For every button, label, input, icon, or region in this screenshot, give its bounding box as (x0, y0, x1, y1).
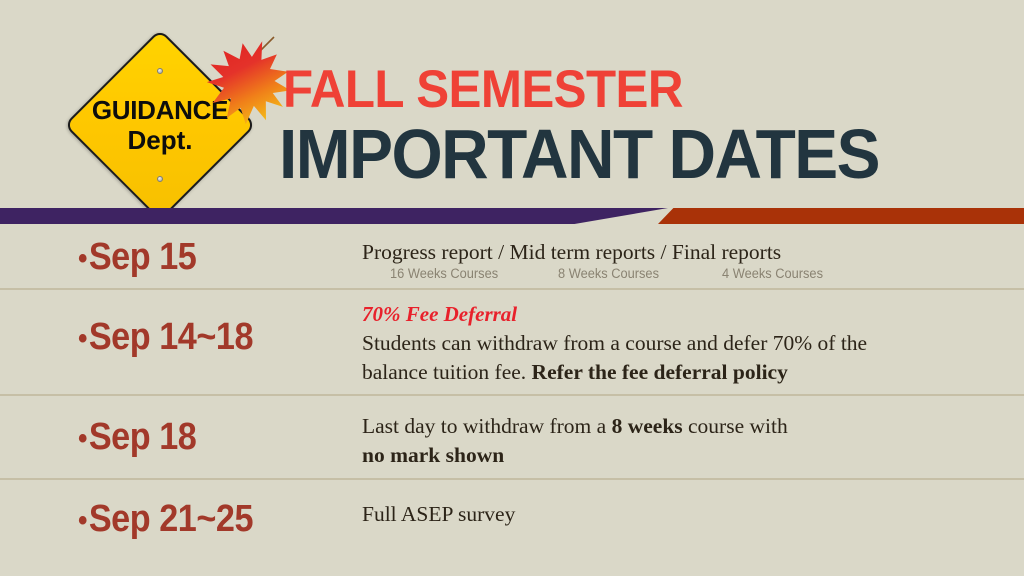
highlight-fee-deferral: 70% Fee Deferral (362, 302, 867, 327)
dates-list: •Sep 15 Progress report / Mid term repor… (0, 224, 1024, 576)
sublabel-row: 16 Weeks Courses 8 Weeks Courses 4 Weeks… (362, 266, 781, 284)
date-text: Sep 15 (89, 236, 197, 278)
description-line-1-bold: 8 weeks (612, 414, 683, 438)
date-description: Full ASEP survey (362, 500, 515, 529)
date-label: •Sep 21~25 (78, 498, 253, 541)
divider-segment-rust (658, 208, 1024, 224)
date-description: 70% Fee Deferral Students can withdraw f… (362, 302, 867, 386)
date-text: Sep 18 (89, 416, 197, 458)
date-row[interactable]: •Sep 15 Progress report / Mid term repor… (0, 224, 1024, 290)
divider-segment-purple (0, 208, 668, 224)
description-line-2: no mark shown (362, 441, 788, 470)
bullet-icon: • (78, 422, 89, 455)
date-row[interactable]: •Sep 14~18 70% Fee Deferral Students can… (0, 290, 1024, 396)
description-main: Progress report / Mid term reports / Fin… (362, 238, 781, 267)
date-row[interactable]: •Sep 18 Last day to withdraw from a 8 we… (0, 396, 1024, 480)
date-description: Progress report / Mid term reports / Fin… (362, 238, 781, 284)
sublabel-8-weeks: 8 Weeks Courses (558, 266, 659, 281)
slide-canvas: GUIDANCE Dept. FALL SEMESTER IMPORTANT D… (0, 0, 1024, 576)
date-row[interactable]: •Sep 21~25 Full ASEP survey (0, 480, 1024, 576)
description-line-2: balance tuition fee. Refer the fee defer… (362, 358, 867, 387)
bullet-icon: • (78, 504, 89, 537)
description-line-2-plain: balance tuition fee. (362, 360, 532, 384)
date-label: •Sep 14~18 (78, 316, 253, 359)
description-line-1-plain-b: course with (683, 414, 788, 438)
description-main: Full ASEP survey (362, 500, 515, 529)
description-line-1: Last day to withdraw from a 8 weeks cour… (362, 412, 788, 441)
description-line-2-bold: Refer the fee deferral policy (532, 360, 788, 384)
sign-line2: Dept. (128, 127, 193, 154)
date-description: Last day to withdraw from a 8 weeks cour… (362, 412, 788, 469)
bullet-icon: • (78, 322, 89, 355)
date-text: Sep 14~18 (89, 316, 253, 358)
date-text: Sep 21~25 (89, 498, 253, 540)
description-line-2-bold: no mark shown (362, 443, 504, 467)
description-line-1: Students can withdraw from a course and … (362, 329, 867, 358)
date-label: •Sep 15 (78, 236, 196, 279)
header: GUIDANCE Dept. FALL SEMESTER IMPORTANT D… (0, 0, 1024, 210)
date-label: •Sep 18 (78, 416, 196, 459)
sublabel-16-weeks: 16 Weeks Courses (390, 266, 498, 281)
bullet-icon: • (78, 242, 89, 275)
description-line-1-plain-a: Last day to withdraw from a (362, 414, 612, 438)
title-important-dates: IMPORTANT DATES (279, 114, 879, 194)
sublabel-4-weeks: 4 Weeks Courses (722, 266, 823, 281)
title-fall-semester: FALL SEMESTER (283, 59, 683, 120)
divider-bar (0, 208, 1024, 224)
